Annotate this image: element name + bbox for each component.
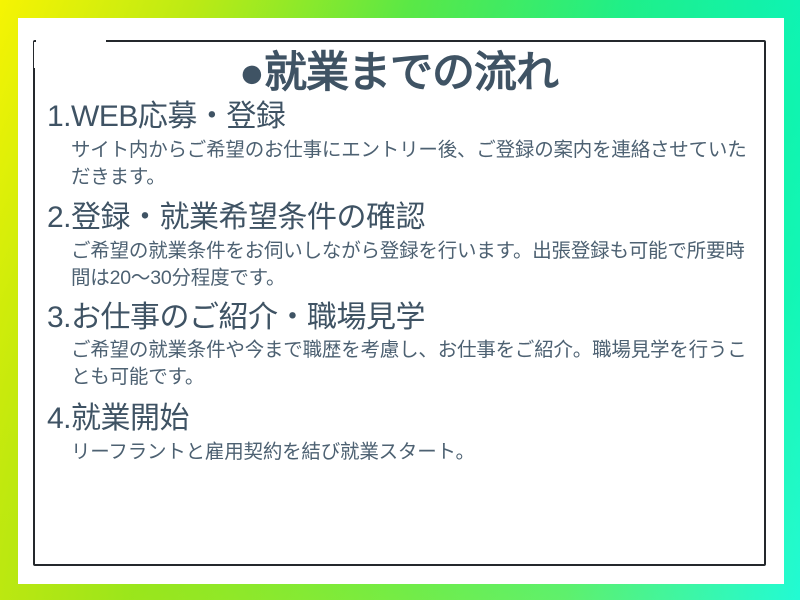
step-heading-2: 2.登録・就業希望条件の確認 [47,200,750,237]
step-item-2: 2.登録・就業希望条件の確認 ご希望の就業条件をお伺いしながら登録を行います。出… [47,200,750,291]
poster-paper: ●就業までの流れ 1.WEB応募・登録 サイト内からご希望のお仕事にエントリー後… [18,18,784,584]
step-body-2: ご希望の就業条件をお伺いしながら登録を行います。出張登録も可能で所要時間は20〜… [71,238,750,292]
poster-gradient-frame: ●就業までの流れ 1.WEB応募・登録 サイト内からご希望のお仕事にエントリー後… [0,0,800,600]
step-heading-4: 4.就業開始 [47,401,750,438]
steps-list: 1.WEB応募・登録 サイト内からご希望のお仕事にエントリー後、ご登録の案内を連… [47,99,750,466]
step-heading-3: 3.お仕事のご紹介・職場見学 [47,300,750,337]
step-body-3: ご希望の就業条件や今まで職歴を考慮し、お仕事をご紹介。職場見学を行うことも可能で… [71,337,750,391]
step-item-3: 3.お仕事のご紹介・職場見学 ご希望の就業条件や今まで職歴を考慮し、お仕事をご紹… [47,300,750,391]
step-heading-1: 1.WEB応募・登録 [47,99,750,136]
step-body-4: リーフラントと雇用契約を結び就業スタート。 [71,439,750,466]
page-title: ●就業までの流れ [47,52,750,95]
step-item-1: 1.WEB応募・登録 サイト内からご希望のお仕事にエントリー後、ご登録の案内を連… [47,99,750,190]
step-item-4: 4.就業開始 リーフラントと雇用契約を結び就業スタート。 [47,401,750,466]
poster-content: ●就業までの流れ 1.WEB応募・登録 サイト内からご希望のお仕事にエントリー後… [33,40,766,566]
step-body-1: サイト内からご希望のお仕事にエントリー後、ご登録の案内を連絡させていただきます。 [71,137,750,191]
